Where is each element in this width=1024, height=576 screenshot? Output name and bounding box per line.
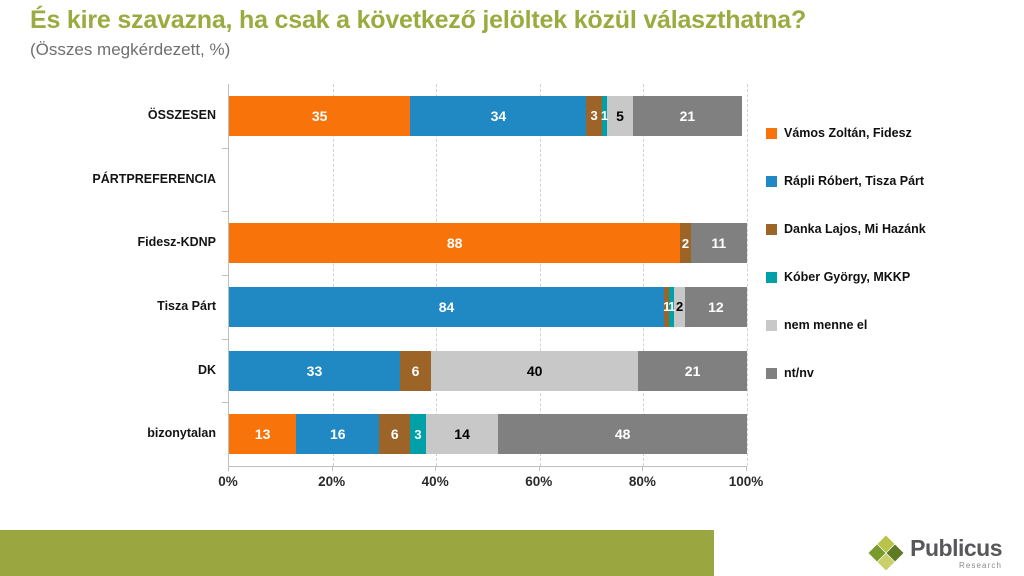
bar-segment-value: 16 xyxy=(330,426,346,442)
bar-row[interactable]: 88211 xyxy=(229,223,747,263)
bar-segment-value: 40 xyxy=(527,363,543,379)
category-label-5: bizonytalan xyxy=(147,426,216,440)
chart-legend: Vámos Zoltán, FideszRápli Róbert, Tisza … xyxy=(766,126,1024,416)
legend-item[interactable]: Vámos Zoltán, Fidesz xyxy=(766,126,912,140)
gridline xyxy=(747,84,748,466)
category-label-4: DK xyxy=(198,363,216,377)
page-subtitle: (Összes megkérdezett, %) xyxy=(30,40,630,60)
legend-label: Vámos Zoltán, Fidesz xyxy=(784,126,912,140)
bar-segment[interactable]: 12 xyxy=(685,287,747,327)
bar-segment[interactable]: 11 xyxy=(691,223,747,263)
gridlines xyxy=(229,84,746,466)
legend-item[interactable]: nt/nv xyxy=(766,366,814,380)
category-label-2: Fidesz-KDNP xyxy=(138,235,216,249)
bar-segment[interactable]: 40 xyxy=(431,351,638,391)
bar-segment-value: 1 xyxy=(668,299,675,314)
legend-item[interactable]: Rápli Róbert, Tisza Párt xyxy=(766,174,924,188)
bar-segment[interactable]: 35 xyxy=(229,96,410,136)
bar-segment-value: 5 xyxy=(616,108,624,124)
bar-row[interactable]: 8411212 xyxy=(229,287,747,327)
bar-segment[interactable]: 88 xyxy=(229,223,680,263)
brand-logo-text: Publicus Research xyxy=(910,537,1002,570)
bar-segment-value: 6 xyxy=(412,363,420,379)
plot-area: 35343152188211841121233640211316631448 xyxy=(228,84,746,466)
bar-segment-value: 35 xyxy=(312,108,328,124)
bar-segment-value: 6 xyxy=(391,426,399,442)
bar-segment[interactable]: 48 xyxy=(498,414,747,454)
x-axis-tick-labels: 0%20%40%60%80%100% xyxy=(228,474,746,498)
bar-segment-value: 2 xyxy=(676,299,683,314)
x-axis-tick-label: 60% xyxy=(525,474,552,489)
x-axis-tick xyxy=(332,466,333,471)
category-label-1: PÁRTPREFERENCIA xyxy=(92,172,216,186)
x-axis-tick xyxy=(746,466,747,471)
bar-row[interactable]: 1316631448 xyxy=(229,414,747,454)
publicus-diamond-icon xyxy=(871,538,901,568)
x-axis-tick-label: 80% xyxy=(629,474,656,489)
bar-segment[interactable]: 3 xyxy=(586,96,602,136)
bar-segment-value: 3 xyxy=(591,108,598,123)
x-axis-tick-label: 20% xyxy=(318,474,345,489)
legend-swatch-icon xyxy=(766,320,777,331)
bar-segment[interactable]: 16 xyxy=(296,414,379,454)
legend-label: nem menne el xyxy=(784,318,867,332)
bar-segment[interactable]: 3 xyxy=(410,414,426,454)
brand-name: Publicus xyxy=(910,537,1002,560)
x-axis-tick xyxy=(228,466,229,471)
bar-segment[interactable]: 6 xyxy=(379,414,410,454)
bar-segment-value: 2 xyxy=(682,236,689,251)
brand-logo: Publicus Research xyxy=(714,530,1024,576)
legend-item[interactable]: nem menne el xyxy=(766,318,867,332)
bar-segment[interactable]: 5 xyxy=(607,96,633,136)
legend-swatch-icon xyxy=(766,272,777,283)
bar-segment-value: 12 xyxy=(708,299,724,315)
category-label-0: ÖSSZESEN xyxy=(148,108,216,122)
bar-segment[interactable]: 21 xyxy=(638,351,747,391)
bar-segment-value: 84 xyxy=(439,299,455,315)
page-title: És kire szavazna, ha csak a következő je… xyxy=(30,6,990,35)
category-axis: ÖSSZESENPÁRTPREFERENCIAFidesz-KDNPTisza … xyxy=(0,84,228,466)
bar-segment-value: 21 xyxy=(680,108,696,124)
bar-segment[interactable]: 13 xyxy=(229,414,296,454)
bar-row[interactable]: 353431521 xyxy=(229,96,747,136)
legend-swatch-icon xyxy=(766,176,777,187)
legend-swatch-icon xyxy=(766,224,777,235)
bar-segment-value: 14 xyxy=(454,426,470,442)
bar-segment[interactable]: 14 xyxy=(426,414,499,454)
bar-segment-value: 13 xyxy=(255,426,271,442)
bar-segment[interactable]: 34 xyxy=(410,96,586,136)
x-axis-tick-label: 0% xyxy=(218,474,238,489)
x-axis-tick xyxy=(642,466,643,471)
legend-swatch-icon xyxy=(766,368,777,379)
bar-segment-value: 21 xyxy=(685,363,701,379)
x-axis-tick-label: 100% xyxy=(729,474,764,489)
legend-label: Danka Lajos, Mi Hazánk xyxy=(784,222,926,236)
bar-segment-value: 88 xyxy=(447,235,463,251)
legend-item[interactable]: Danka Lajos, Mi Hazánk xyxy=(766,222,926,236)
x-axis-tick xyxy=(435,466,436,471)
x-axis-line xyxy=(228,466,746,467)
bar-segment-value: 1 xyxy=(601,108,608,123)
bar-segment-value: 3 xyxy=(414,427,421,442)
category-label-3: Tisza Párt xyxy=(157,299,216,313)
bar-segment[interactable]: 21 xyxy=(633,96,742,136)
x-axis-tick xyxy=(539,466,540,471)
bar-segment[interactable]: 2 xyxy=(680,223,690,263)
bar-segment[interactable]: 33 xyxy=(229,351,400,391)
legend-label: nt/nv xyxy=(784,366,814,380)
legend-swatch-icon xyxy=(766,128,777,139)
gridline xyxy=(540,84,541,466)
stacked-bar-chart: ÖSSZESENPÁRTPREFERENCIAFidesz-KDNPTisza … xyxy=(0,84,760,504)
bar-segment-value: 33 xyxy=(307,363,323,379)
bar-row[interactable]: 3364021 xyxy=(229,351,747,391)
legend-item[interactable]: Kóber György, MKKP xyxy=(766,270,910,284)
gridline xyxy=(436,84,437,466)
legend-label: Kóber György, MKKP xyxy=(784,270,910,284)
bar-segment[interactable]: 84 xyxy=(229,287,664,327)
bar-segment[interactable]: 2 xyxy=(674,287,684,327)
legend-label: Rápli Róbert, Tisza Párt xyxy=(784,174,924,188)
bar-segment-value: 11 xyxy=(711,235,726,251)
bar-segment[interactable]: 6 xyxy=(400,351,431,391)
brand-tagline: Research xyxy=(959,562,1002,570)
x-axis-tick-label: 40% xyxy=(422,474,449,489)
bar-segment-value: 34 xyxy=(491,108,507,124)
bar-segment-value: 48 xyxy=(615,426,631,442)
gridline xyxy=(643,84,644,466)
gridline xyxy=(333,84,334,466)
